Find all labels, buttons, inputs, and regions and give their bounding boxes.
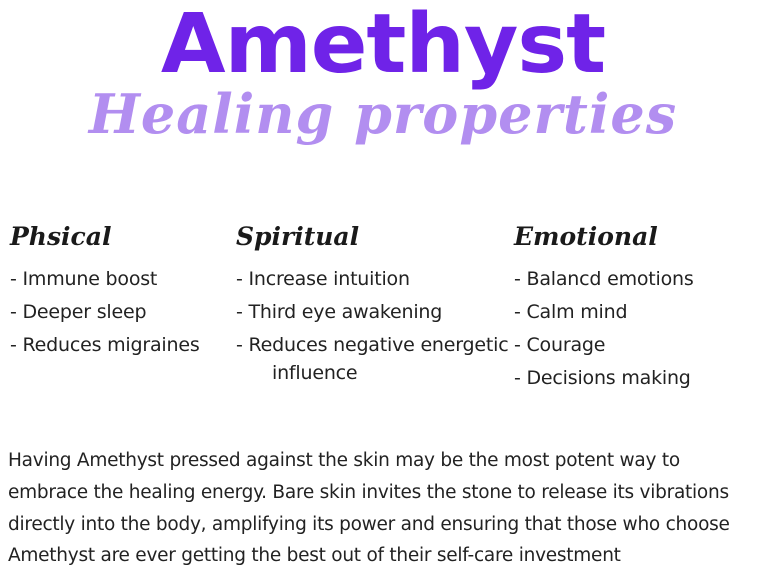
list-item: - Calm mind bbox=[514, 298, 766, 326]
document-page: Amethyst Healing properties Phsical - Im… bbox=[0, 0, 766, 578]
column-heading-spiritual: Spiritual bbox=[236, 222, 514, 251]
list-item: - Courage bbox=[514, 331, 766, 359]
column-heading-physical: Phsical bbox=[10, 222, 232, 251]
page-subtitle: Healing properties bbox=[0, 86, 766, 143]
column-physical: Phsical - Immune boost - Deeper sleep - … bbox=[0, 222, 232, 397]
page-title: Amethyst bbox=[0, 6, 766, 84]
list-item: - Third eye awakening bbox=[236, 298, 514, 326]
properties-columns: Phsical - Immune boost - Deeper sleep - … bbox=[0, 222, 766, 397]
body-paragraph: Having Amethyst pressed against the skin… bbox=[8, 445, 756, 572]
list-item: - Reduces negative energeticinfluence bbox=[236, 331, 514, 387]
list-item: - Deeper sleep bbox=[10, 298, 232, 326]
title-block: Amethyst Healing properties bbox=[0, 0, 766, 143]
list-item: - Increase intuition bbox=[236, 265, 514, 293]
column-spiritual: Spiritual - Increase intuition - Third e… bbox=[232, 222, 514, 397]
list-item: - Reduces migraines bbox=[10, 331, 232, 359]
list-emotional: - Balancd emotions - Calm mind - Courage… bbox=[514, 265, 766, 392]
column-emotional: Emotional - Balancd emotions - Calm mind… bbox=[514, 222, 766, 397]
column-heading-emotional: Emotional bbox=[514, 222, 766, 251]
list-spiritual: - Increase intuition - Third eye awakeni… bbox=[236, 265, 514, 387]
paragraph-text: Having Amethyst pressed against the skin… bbox=[8, 445, 756, 572]
list-item-text: - Reduces negative energetic bbox=[236, 334, 508, 356]
list-item: - Decisions making bbox=[514, 364, 766, 392]
list-item-continuation: influence bbox=[250, 359, 514, 387]
list-item: - Balancd emotions bbox=[514, 265, 766, 293]
list-physical: - Immune boost - Deeper sleep - Reduces … bbox=[10, 265, 232, 359]
list-item: - Immune boost bbox=[10, 265, 232, 293]
